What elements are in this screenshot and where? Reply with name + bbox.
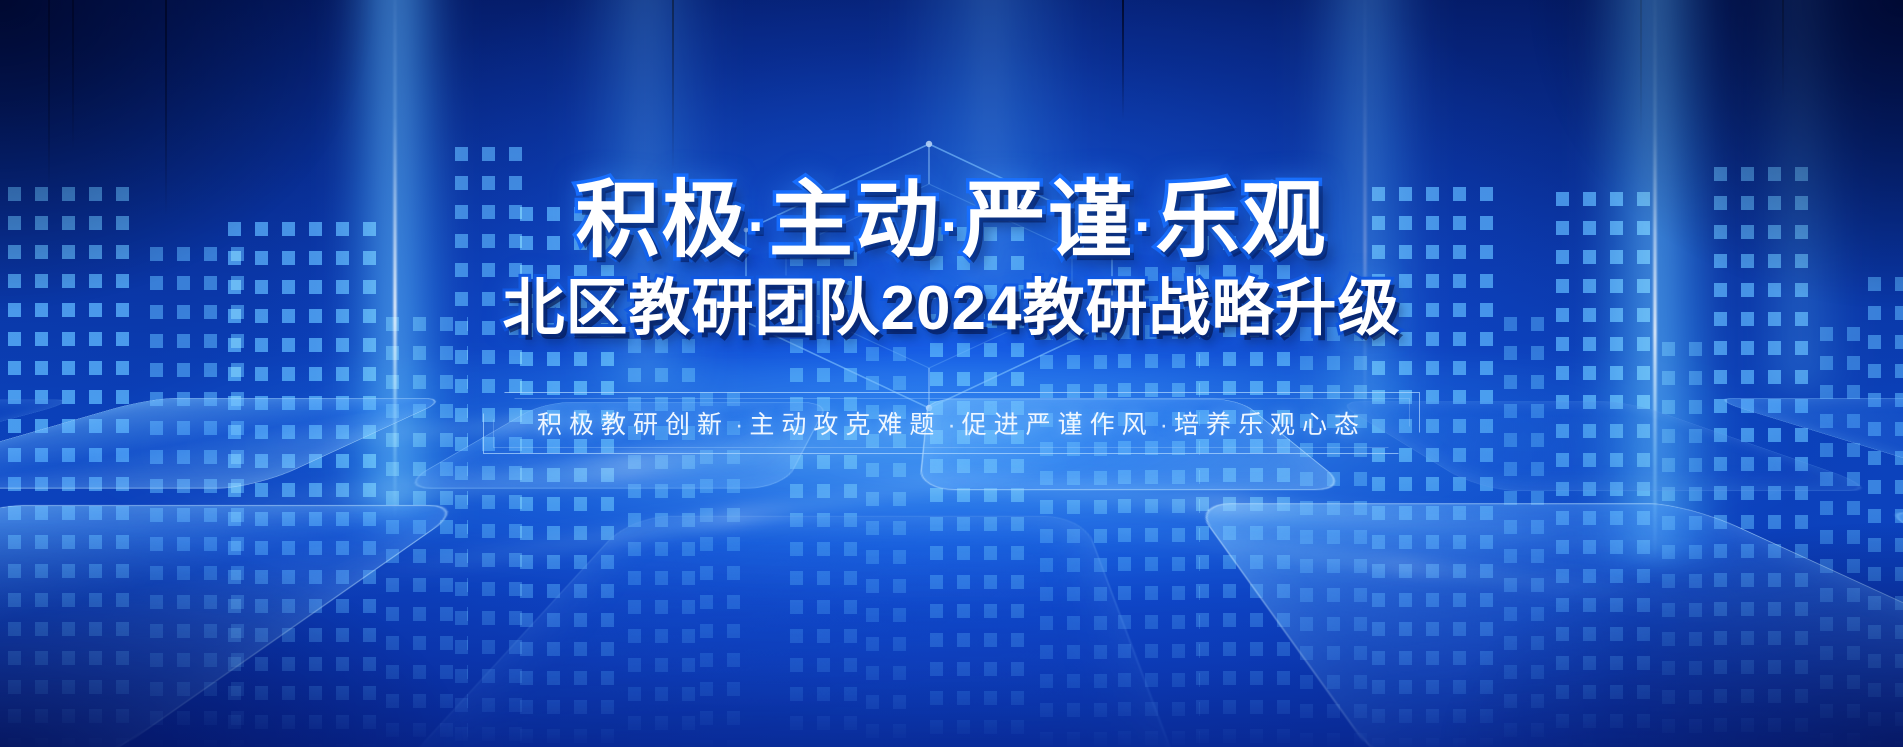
tagline-item-3: 促进严谨作风 <box>962 411 1154 439</box>
tagline-item-4: 培养乐观心态 <box>1174 411 1366 439</box>
banner-subtitle: 北区教研团队2024教研战略升级 <box>503 278 1401 340</box>
title-part-4: 乐观 <box>1156 173 1328 267</box>
title-separator-1: · <box>747 194 768 259</box>
banner-title: 积极·主动·严谨·乐观 <box>575 178 1327 262</box>
banner-tagline: 积极教研创新·主动攻克难题·促进严谨作风·培养乐观心态 <box>537 405 1366 441</box>
title-part-3: 严谨 <box>962 173 1134 267</box>
tagline-item-1: 积极教研创新 <box>537 411 729 439</box>
title-separator-2: · <box>941 194 962 259</box>
title-part-2: 主动 <box>769 173 941 267</box>
banner-root: 积极·主动·严谨·乐观 北区教研团队2024教研战略升级 积极教研创新·主动攻克… <box>0 0 1903 747</box>
title-part-1: 积极 <box>575 173 747 267</box>
tagline-item-2: 主动攻克难题 <box>749 411 941 439</box>
tagline-separator-2: · <box>941 411 961 439</box>
tagline-separator-1: · <box>729 411 749 439</box>
title-separator-3: · <box>1134 194 1155 259</box>
tagline-container: 积极教研创新·主动攻克难题·促进严谨作风·培养乐观心态 <box>483 392 1420 454</box>
tagline-separator-3: · <box>1154 411 1174 439</box>
banner-content: 积极·主动·严谨·乐观 北区教研团队2024教研战略升级 积极教研创新·主动攻克… <box>0 0 1903 747</box>
